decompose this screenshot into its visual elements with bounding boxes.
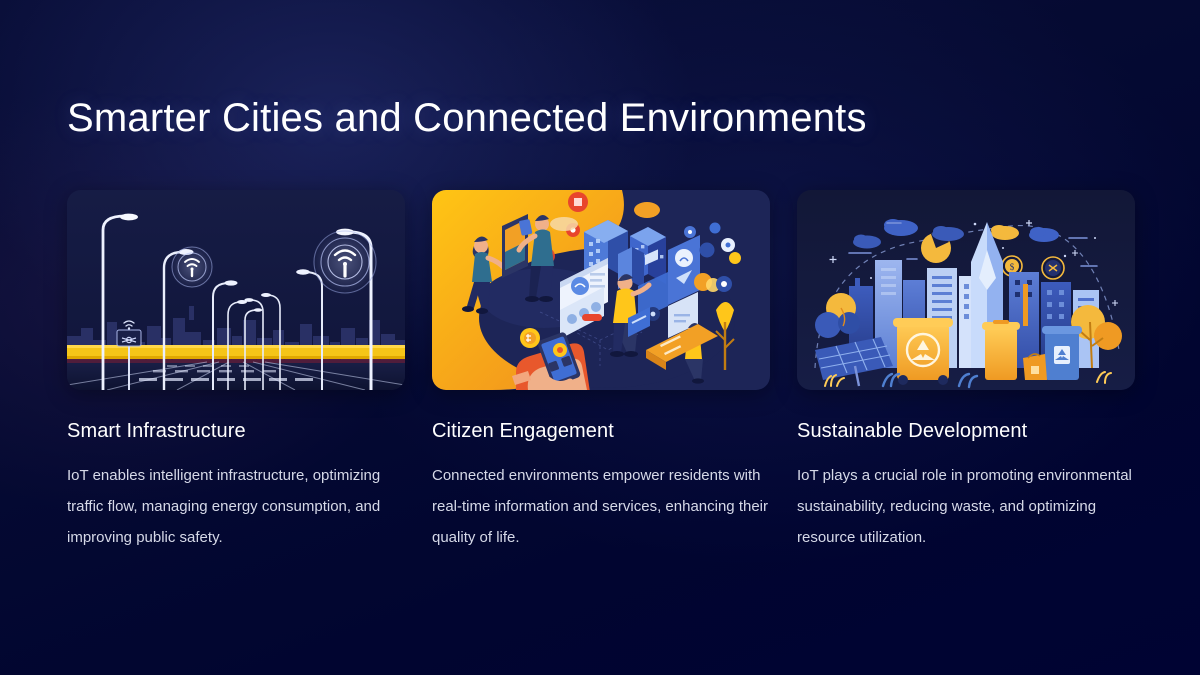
card-citizen-engagement[interactable]: Citizen Engagement Connected environment… bbox=[432, 190, 770, 553]
card-1-artwork bbox=[67, 190, 405, 390]
yellow-road-band bbox=[67, 345, 405, 359]
smart-street-lighting-illustration bbox=[67, 190, 405, 390]
card-body: IoT enables intelligent infrastructure, … bbox=[67, 460, 403, 553]
paper-bag bbox=[1023, 354, 1047, 380]
recycle-bin-blue bbox=[1042, 326, 1082, 380]
citizen-digital-services-illustration bbox=[432, 190, 770, 390]
card-body: IoT plays a crucial role in promoting en… bbox=[797, 460, 1133, 553]
card-title: Citizen Engagement bbox=[432, 418, 770, 444]
slide-root: Smarter Cities and Connected Environment… bbox=[0, 0, 1200, 675]
coin-recycle-icon bbox=[1042, 257, 1064, 279]
card-3-artwork: $ bbox=[797, 190, 1135, 390]
recycle-bin-large bbox=[893, 318, 953, 385]
sustainable-city-illustration: $ bbox=[797, 190, 1135, 390]
page-title: Smarter Cities and Connected Environment… bbox=[67, 92, 867, 144]
card-title: Sustainable Development bbox=[797, 418, 1135, 444]
card-grid: Smart Infrastructure IoT enables intelli… bbox=[67, 190, 1135, 553]
card-body: Connected environments empower residents… bbox=[432, 460, 770, 553]
card-2-artwork bbox=[432, 190, 770, 390]
card-sustainable-development[interactable]: $ bbox=[797, 190, 1135, 553]
card-smart-infrastructure[interactable]: Smart Infrastructure IoT enables intelli… bbox=[67, 190, 405, 553]
card-title: Smart Infrastructure bbox=[67, 418, 405, 444]
recycle-bin-medium bbox=[982, 320, 1020, 380]
svg-text:$: $ bbox=[1010, 262, 1015, 272]
